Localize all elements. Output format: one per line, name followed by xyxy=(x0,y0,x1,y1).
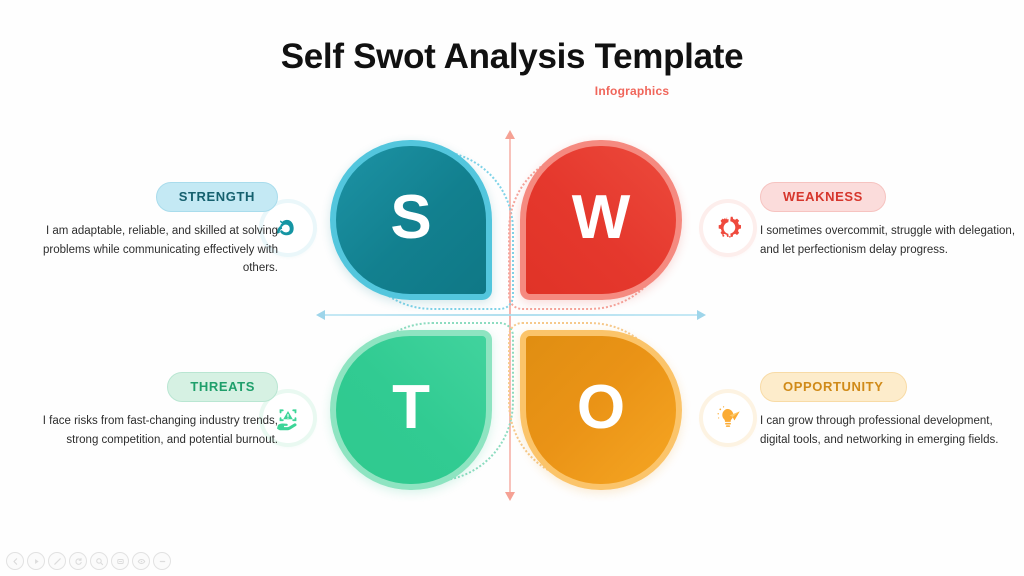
refresh-button[interactable] xyxy=(69,552,87,570)
minimize-button[interactable] xyxy=(153,552,171,570)
petal-letter-strength: S xyxy=(390,187,431,249)
magnifier-icon xyxy=(95,557,104,566)
quadrant-text-threats: THREATS I face risks from fast-changing … xyxy=(18,372,278,449)
petal-letter-threats: T xyxy=(392,377,430,439)
icon-badge-opportunity xyxy=(703,393,753,443)
hand-warning-scan-icon xyxy=(274,404,302,432)
refresh-icon xyxy=(74,557,83,566)
petal-strength[interactable]: S xyxy=(330,140,492,300)
axis-arrow-up-icon xyxy=(505,130,515,139)
play-icon xyxy=(32,557,41,566)
petal-letter-opportunity: O xyxy=(577,377,625,439)
flexed-bicep-icon xyxy=(274,214,302,242)
quadrant-text-weakness: WEAKNESS I sometimes overcommit, struggl… xyxy=(760,182,1020,259)
lightbulb-paper-plane-icon xyxy=(714,404,742,432)
pen-annotation-button[interactable] xyxy=(48,552,66,570)
page-header: Self Swot Analysis Template Infographics xyxy=(0,38,1024,77)
play-slideshow-button[interactable] xyxy=(27,552,45,570)
swot-petal-cluster: S W T O xyxy=(330,140,690,490)
horizontal-axis-line xyxy=(322,314,698,316)
quadrant-text-strength: STRENGTH I am adaptable, reliable, and s… xyxy=(18,182,278,278)
axis-arrow-left-icon xyxy=(316,310,325,320)
petal-opportunity[interactable]: O xyxy=(520,330,682,490)
label-pill-threats[interactable]: THREATS xyxy=(167,372,278,402)
label-pill-opportunity[interactable]: OPPORTUNITY xyxy=(760,372,907,402)
eye-icon xyxy=(137,557,146,566)
petal-threats[interactable]: T xyxy=(330,330,492,490)
label-pill-strength[interactable]: STRENGTH xyxy=(156,182,278,212)
description-weakness: I sometimes overcommit, struggle with de… xyxy=(760,222,1020,259)
axis-arrow-right-icon xyxy=(697,310,706,320)
chevron-left-icon xyxy=(11,557,20,566)
slide-toolbar xyxy=(6,552,171,570)
zoom-search-button[interactable] xyxy=(90,552,108,570)
petal-weakness[interactable]: W xyxy=(520,140,682,300)
page-subtitle: Infographics xyxy=(0,84,1024,98)
quadrant-text-opportunity: OPPORTUNITY I can grow through professio… xyxy=(760,372,1020,449)
pen-icon xyxy=(53,557,62,566)
notes-button[interactable] xyxy=(111,552,129,570)
page-title: Self Swot Analysis Template xyxy=(0,38,1024,77)
description-opportunity: I can grow through professional developm… xyxy=(760,412,1020,449)
label-pill-weakness[interactable]: WEAKNESS xyxy=(760,182,886,212)
note-icon xyxy=(116,557,125,566)
broken-gear-icon xyxy=(714,214,742,242)
axis-arrow-down-icon xyxy=(505,492,515,501)
minus-icon xyxy=(158,557,167,566)
petal-letter-weakness: W xyxy=(572,187,631,249)
previous-slide-button[interactable] xyxy=(6,552,24,570)
description-threats: I face risks from fast-changing industry… xyxy=(18,412,278,449)
icon-badge-weakness xyxy=(703,203,753,253)
description-strength: I am adaptable, reliable, and skilled at… xyxy=(18,222,278,278)
presenter-view-button[interactable] xyxy=(132,552,150,570)
